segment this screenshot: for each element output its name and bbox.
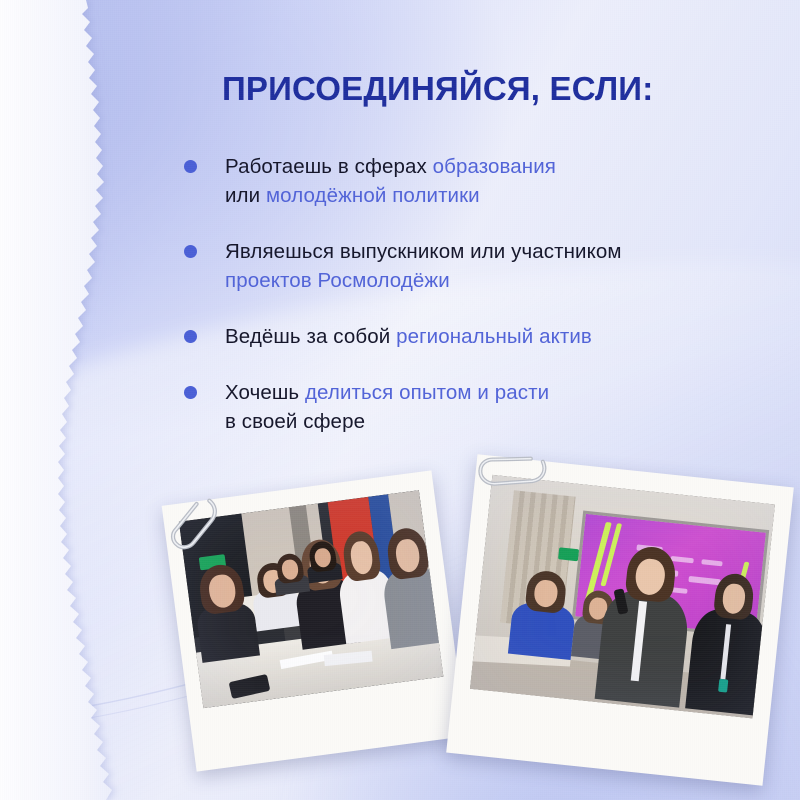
- bullet-highlight: делиться опытом и расти: [305, 381, 549, 404]
- bullet-text: Работаешь в сферах образования или молод…: [225, 152, 556, 210]
- photo-audience-image: [179, 490, 443, 708]
- list-item: Ведёшь за собой региональный актив: [184, 322, 744, 351]
- bullet-dot-icon: [184, 245, 197, 258]
- bullet-highlight-2: молодёжной политики: [266, 184, 480, 207]
- page-title: ПРИСОЕДИНЯЙСЯ, ЕСЛИ:: [222, 70, 653, 108]
- list-item: Являешься выпускником или участником про…: [184, 237, 744, 295]
- bullet-dot-icon: [184, 330, 197, 343]
- bullet-text: Хочешь делиться опытом и расти в своей с…: [225, 378, 549, 436]
- bullet-text: Ведёшь за собой региональный актив: [225, 322, 592, 351]
- bullet-plain: Хочешь: [225, 381, 305, 404]
- photo-speaker: [446, 454, 794, 786]
- list-item: Работаешь в сферах образования или молод…: [184, 152, 744, 210]
- bullet-plain-2: или: [225, 184, 266, 207]
- bullet-plain-2: в своей сфере: [225, 410, 365, 433]
- slide-canvas: ПРИСОЕДИНЯЙСЯ, ЕСЛИ: Работаешь в сферах …: [0, 0, 800, 800]
- bullet-plain: Являешься выпускником или участником: [225, 240, 622, 263]
- bullet-highlight: образования: [433, 155, 556, 178]
- bullet-dot-icon: [184, 160, 197, 173]
- photo-audience: [162, 470, 467, 771]
- bullet-list: Работаешь в сферах образования или молод…: [184, 152, 744, 463]
- bullet-dot-icon: [184, 386, 197, 399]
- bullet-text: Являешься выпускником или участником про…: [225, 237, 622, 295]
- list-item: Хочешь делиться опытом и расти в своей с…: [184, 378, 744, 436]
- photo-speaker-image: [470, 475, 775, 719]
- bullet-plain: Ведёшь за собой: [225, 325, 396, 348]
- bullet-highlight: региональный актив: [396, 325, 592, 348]
- bullet-plain: Работаешь в сферах: [225, 155, 433, 178]
- bullet-highlight-2: проектов Росмолодёжи: [225, 269, 450, 292]
